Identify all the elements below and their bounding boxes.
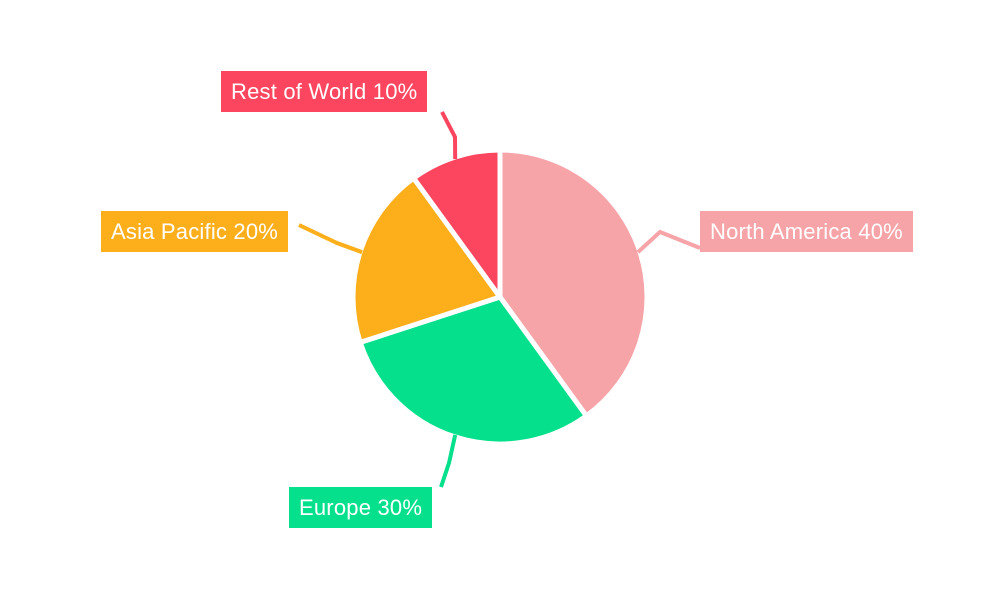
slice-label-asia-pacific: Asia Pacific 20%: [101, 211, 288, 252]
slice-label-asia-pacific-text: Asia Pacific 20%: [111, 221, 278, 243]
leader-line-rest-of-world: [442, 112, 455, 159]
slice-label-europe-text: Europe 30%: [299, 497, 422, 519]
slice-label-rest-of-world-text: Rest of World 10%: [231, 81, 417, 103]
slice-label-rest-of-world: Rest of World 10%: [221, 71, 427, 112]
slice-label-europe: Europe 30%: [289, 487, 432, 528]
leader-line-north-america: [638, 232, 700, 252]
pie-slices-group: [353, 150, 647, 444]
slice-label-north-america: North America 40%: [700, 211, 913, 252]
pie-chart-figure: North America 40% Europe 30% Asia Pacifi…: [0, 0, 1000, 600]
pie-chart-canvas: [0, 0, 1000, 600]
leader-line-asia-pacific: [299, 225, 362, 252]
slice-label-north-america-text: North America 40%: [710, 221, 903, 243]
leader-line-europe: [441, 435, 455, 487]
